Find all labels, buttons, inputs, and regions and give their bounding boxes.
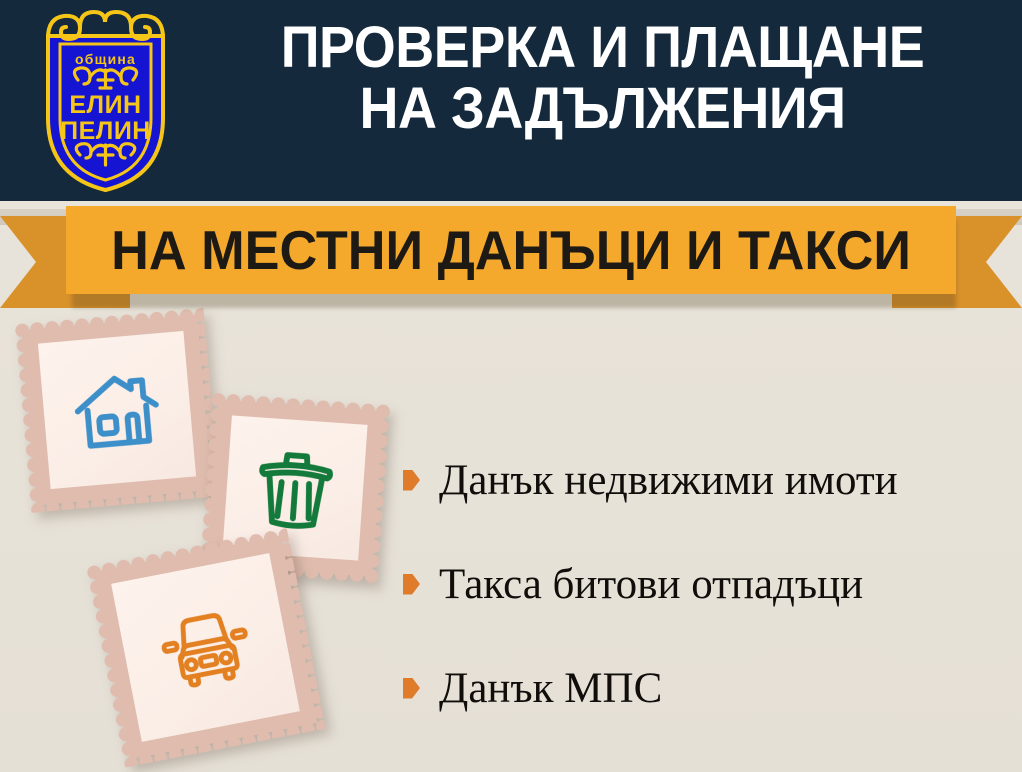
list-item-label: Такса битови отпадъци xyxy=(439,563,863,606)
bullet-arrow-icon xyxy=(403,470,420,491)
bullet-arrow-icon xyxy=(403,678,420,699)
list-item-label: Данък недвижими имоти xyxy=(439,459,898,502)
list-item[interactable]: Такса битови отпадъци xyxy=(403,532,1003,636)
page-title: ПРОВЕРКА И ПЛАЩАНЕ НА ЗАДЪЛЖЕНИЯ xyxy=(224,18,982,140)
svg-text:ЕЛИН: ЕЛИН xyxy=(69,91,141,119)
poster-root: община ЕЛИН ПЕЛИН xyxy=(0,0,1022,772)
svg-text:ПЕЛИН: ПЕЛИН xyxy=(60,117,151,145)
svg-text:община: община xyxy=(75,51,136,67)
list-item[interactable]: Данък недвижими имоти xyxy=(403,428,1003,532)
header-banner: община ЕЛИН ПЕЛИН xyxy=(0,0,1022,201)
list-item[interactable]: Данък МПС xyxy=(403,636,1003,740)
ribbon-label: НА МЕСТНИ ДАНЪЦИ И ТАКСИ xyxy=(88,206,934,294)
car-icon xyxy=(111,553,300,742)
house-icon xyxy=(38,331,196,489)
subtitle-ribbon: НА МЕСТНИ ДАНЪЦИ И ТАКСИ xyxy=(0,200,1022,310)
house-stamp xyxy=(14,307,220,513)
list-item-label: Данък МПС xyxy=(439,667,662,710)
municipality-crest: община ЕЛИН ПЕЛИН xyxy=(18,8,193,198)
services-list: Данък недвижими имоти Такса битови отпад… xyxy=(403,428,1003,740)
car-stamp xyxy=(85,527,325,767)
coat-of-arms-shield-icon: община ЕЛИН ПЕЛИН xyxy=(18,8,193,198)
bullet-arrow-icon xyxy=(403,574,420,595)
